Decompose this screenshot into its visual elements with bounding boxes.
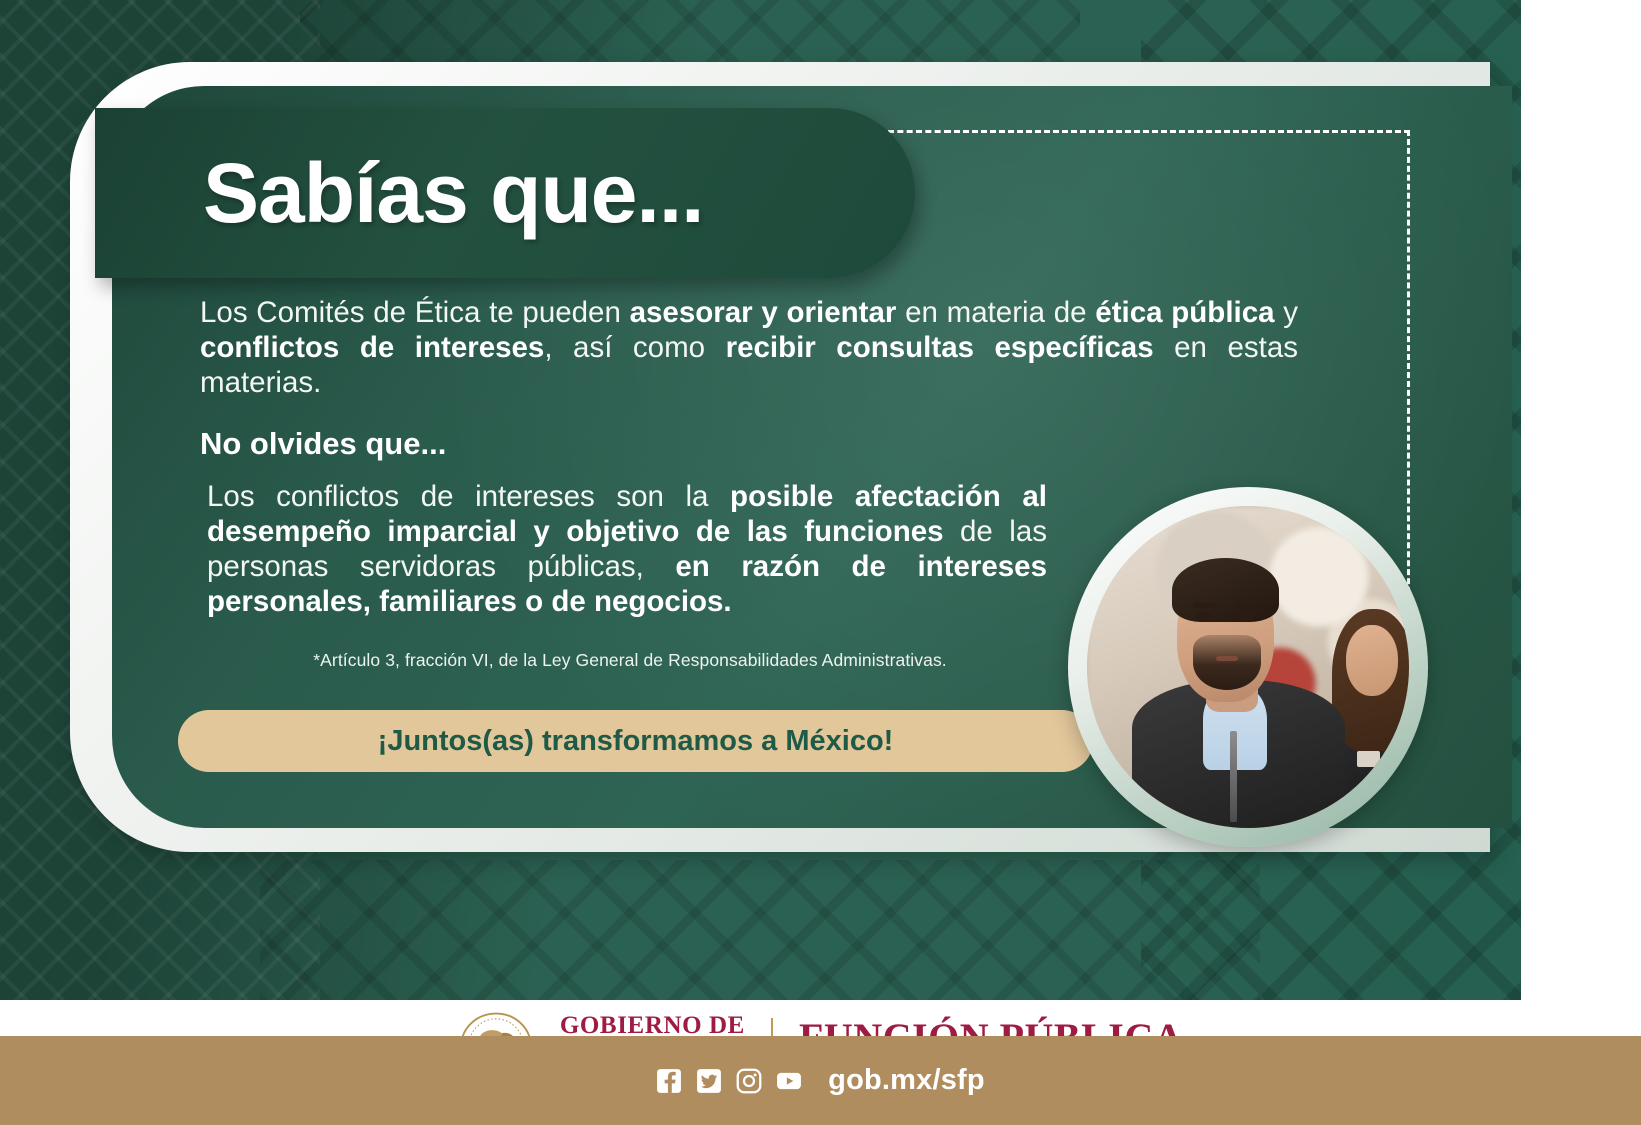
youtube-icon[interactable] — [776, 1068, 802, 1094]
twitter-icon[interactable] — [696, 1068, 722, 1094]
website-url[interactable]: gob.mx/sfp — [828, 1064, 985, 1097]
right-white-margin — [1521, 0, 1641, 1000]
legal-footnote: *Artículo 3, fracción VI, de la Ley Gene… — [275, 650, 985, 671]
subheading-no-olvides: No olvides que... — [200, 426, 1300, 462]
poster-root: Sabías que... Los Comités de Ética te pu… — [0, 0, 1641, 1125]
instagram-icon[interactable] — [736, 1068, 762, 1094]
title-plate: Sabías que... — [95, 108, 915, 278]
paragraph-definition: Los conflictos de intereses son la posib… — [207, 480, 1047, 619]
chevron-pattern-bottom — [260, 860, 1260, 1000]
gobierno-line-1: GOBIERNO DE — [560, 1013, 745, 1038]
facebook-icon[interactable] — [656, 1068, 682, 1094]
photo-servidores-publicos — [1087, 506, 1409, 828]
page-title: Sabías que... — [203, 151, 704, 235]
cta-label: ¡Juntos(as) transformamos a México! — [378, 725, 894, 758]
social-bar: gob.mx/sfp — [0, 1036, 1641, 1125]
paragraph-intro: Los Comités de Ética te pueden asesorar … — [200, 296, 1298, 400]
cta-banner[interactable]: ¡Juntos(as) transformamos a México! — [178, 710, 1093, 772]
